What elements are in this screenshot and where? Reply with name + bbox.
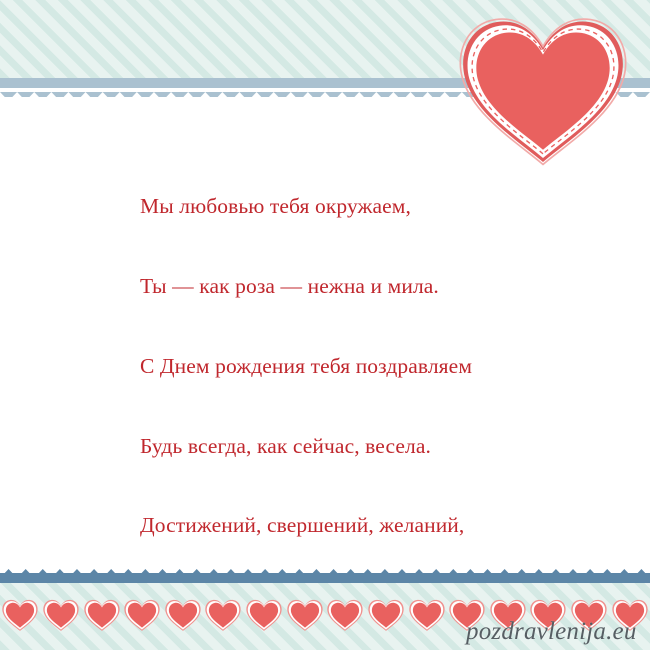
watermark-label: pozdravlenija.eu: [466, 618, 637, 646]
mini-heart-icon: [326, 596, 364, 634]
mini-heart-svg: [83, 596, 121, 634]
mini-heart-svg: [204, 596, 242, 634]
mini-heart-icon: [245, 596, 283, 634]
mini-heart-svg: [1, 596, 39, 634]
mini-heart-svg: [286, 596, 324, 634]
mini-heart-svg: [164, 596, 202, 634]
bottom-zigzag-border: [0, 565, 650, 574]
mini-heart-icon: [408, 596, 446, 634]
bottom-zigzag-icon: [0, 569, 650, 574]
bottom-blue-band: [0, 573, 650, 583]
greeting-card: Мы любовью тебя окружаем, Ты — как роза …: [0, 0, 650, 650]
poem-line: Ты — как роза — нежна и мила.: [140, 273, 620, 300]
mini-heart-icon: [164, 596, 202, 634]
mini-heart-icon: [367, 596, 405, 634]
mini-heart-icon: [204, 596, 242, 634]
mini-heart-svg: [123, 596, 161, 634]
mini-heart-icon: [286, 596, 324, 634]
poem-line: С Днем рождения тебя поздравляем: [140, 353, 620, 380]
mini-heart-icon: [1, 596, 39, 634]
mini-heart-svg: [42, 596, 80, 634]
mini-heart-icon: [42, 596, 80, 634]
mini-heart-icon: [123, 596, 161, 634]
mini-heart-svg: [245, 596, 283, 634]
poem-line: Мы любовью тебя окружаем,: [140, 193, 620, 220]
poem-line: Достижений, свершений, желаний,: [140, 512, 620, 539]
mini-heart-svg: [326, 596, 364, 634]
mini-heart-svg: [367, 596, 405, 634]
mini-heart-icon: [83, 596, 121, 634]
mini-heart-svg: [408, 596, 446, 634]
poem-line: Будь всегда, как сейчас, весела.: [140, 433, 620, 460]
